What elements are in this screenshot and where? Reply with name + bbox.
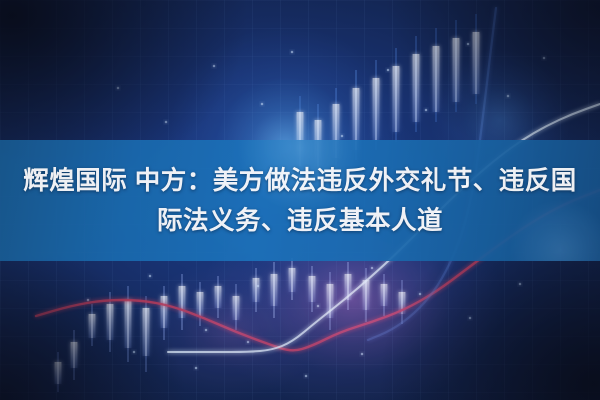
candlestick xyxy=(233,284,240,330)
sparkle-dot xyxy=(117,87,120,90)
sparkle-dot xyxy=(425,109,428,112)
sparkle-dot xyxy=(195,367,198,370)
candlestick xyxy=(453,20,460,112)
sparkle-dot xyxy=(507,95,510,98)
sparkle-dot xyxy=(387,69,390,72)
candlestick xyxy=(125,286,132,362)
candlestick xyxy=(433,28,440,122)
headline-banner: 辉煌国际 中方：美方做法违反外交礼节、违反国 际法义务、违反基本人道 xyxy=(0,140,600,261)
candlestick xyxy=(253,268,260,312)
headline-text-line-2: 际法义务、违反基本人道 xyxy=(157,201,443,241)
sparkle-dot xyxy=(149,275,152,278)
candlestick xyxy=(179,274,186,330)
sparkle-dot xyxy=(519,283,522,286)
sparkle-dot xyxy=(261,103,264,106)
sparkle-dot xyxy=(543,57,546,60)
sparkle-dot xyxy=(341,135,344,138)
candlestick xyxy=(71,330,78,380)
candlestick xyxy=(215,276,222,318)
sparkle-dot xyxy=(419,293,422,296)
candlestick xyxy=(161,286,168,340)
candlestick xyxy=(393,48,400,142)
headline-text-line-1: 辉煌国际 中方：美方做法违反外交礼节、违反国 xyxy=(23,161,577,201)
sparkle-dot xyxy=(305,375,308,378)
candlestick xyxy=(373,60,380,150)
sparkle-dot xyxy=(165,121,168,124)
candlestick xyxy=(271,262,278,318)
candlestick xyxy=(413,36,420,132)
candlestick xyxy=(107,292,114,352)
candlestick xyxy=(363,268,370,322)
sparkle-dot xyxy=(291,51,294,54)
candlestick xyxy=(289,258,296,300)
candlestick xyxy=(197,282,204,326)
sparkle-dot xyxy=(87,299,90,302)
candlestick xyxy=(309,266,316,312)
candlestick xyxy=(89,304,96,346)
candlestick xyxy=(143,296,150,372)
news-thumbnail-image: 辉煌国际 中方：美方做法违反外交礼节、违反国 际法义务、违反基本人道 xyxy=(0,0,600,400)
candlestick xyxy=(381,274,388,316)
candlestick xyxy=(473,14,480,104)
sparkle-dot xyxy=(133,351,136,354)
sparkle-dot xyxy=(317,305,320,308)
candlestick xyxy=(55,352,62,392)
sparkle-dot xyxy=(371,267,374,270)
sparkle-dot xyxy=(213,65,216,68)
sparkle-dot xyxy=(247,341,250,344)
candlestick xyxy=(327,272,334,330)
sparkle-dot xyxy=(257,285,260,288)
sparkle-dot xyxy=(469,317,472,320)
sparkle-dot xyxy=(205,329,208,332)
candlestick xyxy=(399,280,406,324)
sparkle-dot xyxy=(467,43,470,46)
candlestick xyxy=(345,262,352,310)
sparkle-dot xyxy=(361,353,364,356)
